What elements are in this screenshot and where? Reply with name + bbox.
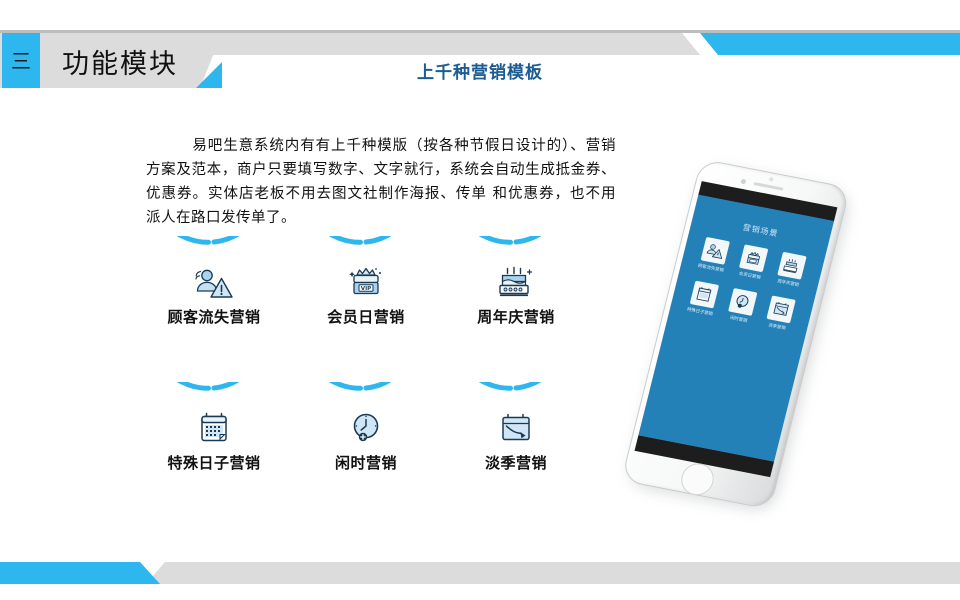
calendar-icon (150, 408, 278, 450)
feature-label: 会员日营销 (302, 306, 430, 327)
description-paragraph: 易吧生意系统内有有上千种模版（按各种节假日设计的）、营销方案及范本，商户只要填写… (146, 134, 616, 230)
declining-chart-icon (452, 408, 580, 450)
feature-item-1[interactable]: VIP 会员日营销 (302, 236, 430, 364)
feature-item-0[interactable]: 顾客流失营销 (150, 236, 278, 364)
vip-card-icon (739, 244, 768, 272)
feature-item-3[interactable]: 特殊日子营销 (150, 382, 278, 510)
user-warning-icon (150, 262, 278, 304)
clock-icon (302, 408, 430, 450)
svg-text:VIP: VIP (361, 286, 372, 292)
app-item-label: 特殊日子营销 (686, 307, 713, 318)
app-item-5[interactable]: 淡季营销 (757, 294, 804, 334)
clock-icon (728, 288, 757, 316)
page-title: 上千种营销模板 (0, 58, 960, 83)
declining-chart-icon (767, 296, 796, 324)
app-item-label: 淡季营销 (768, 322, 787, 331)
phone-screen[interactable]: 营销场景 顾客流失营销 (638, 195, 834, 462)
app-item-label: 顾客流失营销 (697, 263, 724, 274)
vip-card-icon: VIP (302, 262, 430, 304)
birthday-cake-icon (452, 262, 580, 304)
slide-stage: 三 功能模块 上千种营销模板 易吧生意系统内有有上千种模版（按各种节假日设计的）… (0, 0, 960, 600)
feature-label: 顾客流失营销 (150, 306, 278, 327)
header-rule (0, 30, 960, 33)
feature-item-4[interactable]: 闲时营销 (302, 382, 430, 510)
app-item-label: 闲时营销 (729, 315, 748, 324)
feature-label: 淡季营销 (452, 452, 580, 473)
feature-item-5[interactable]: 淡季营销 (452, 382, 580, 510)
feature-label: 周年庆营销 (452, 306, 580, 327)
app-icon-grid: 顾客流失营销 会员日营销 (680, 235, 815, 333)
phone-mockup: 营销场景 顾客流失营销 (630, 160, 870, 530)
app-item-label: 周年庆营销 (777, 278, 800, 288)
birthday-cake-icon (778, 252, 807, 280)
feature-label: 闲时营销 (302, 452, 430, 473)
calendar-icon (689, 280, 718, 308)
app-item-2[interactable]: 周年庆营销 (768, 250, 815, 290)
feature-label: 特殊日子营销 (150, 452, 278, 473)
feature-item-2[interactable]: 周年庆营销 (452, 236, 580, 364)
app-item-label: 会员日营销 (738, 271, 761, 281)
user-warning-icon (700, 237, 729, 265)
feature-circle-grid: 顾客流失营销 VIP 会员日营销 (150, 236, 620, 511)
